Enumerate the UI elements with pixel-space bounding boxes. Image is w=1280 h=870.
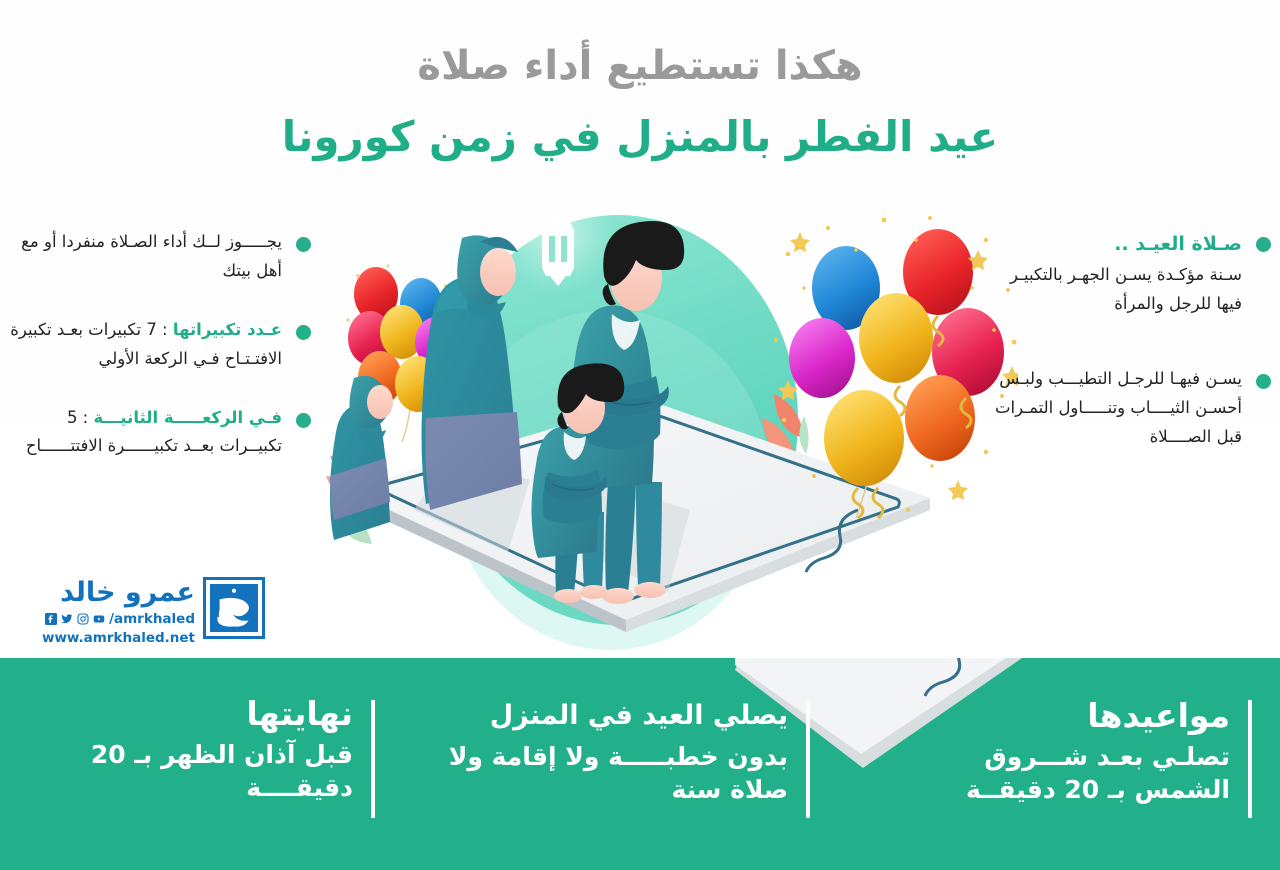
panel-right-title: مواعيدها xyxy=(892,698,1230,734)
left-bullet-1-text: يجـــــوز لــك أداء الصـلاة منفردا أو مع… xyxy=(10,228,310,286)
list-item: صـلاة العيـد ..سـنة مؤكـدة يسـن الجهـر ب… xyxy=(990,228,1270,319)
bullet-dot-icon xyxy=(1256,374,1271,389)
hanging-lantern-icon xyxy=(500,180,616,293)
right-bullet-column: صـلاة العيـد ..سـنة مؤكـدة يسـن الجهـر ب… xyxy=(990,228,1270,482)
panel-how-to-pray: يصلي العيد في المنزل بدون خطبـــــة ولا … xyxy=(410,658,810,870)
right-bullet-1-heading: صـلاة العيـد .. xyxy=(990,228,1242,261)
mother-figure xyxy=(422,235,523,510)
instagram-icon[interactable] xyxy=(77,613,89,625)
list-item: فـي الركعـــــة الثانيـــة : 5 تكبيــرات… xyxy=(10,404,310,462)
amrkhaled-emblem-icon xyxy=(203,577,265,639)
bullet-dot-icon xyxy=(296,413,311,428)
list-item: يسـن فيهـا للرجـل التطيـــب ولبـس أحسـن … xyxy=(990,365,1270,452)
bottom-green-band: مواعيدها تصلـي بعـد شـــروق الشمس بـ 20 … xyxy=(0,658,1280,870)
left-bullet-2-highlight: عـدد تكبيراتها xyxy=(173,320,282,339)
panel-right-body: تصلـي بعـد شـــروق الشمس بـ 20 دقيقــة xyxy=(892,740,1230,806)
left-bullet-3: فـي الركعـــــة الثانيـــة : 5 تكبيــرات… xyxy=(10,404,310,462)
left-bullet-column: يجـــــوز لــك أداء الصـلاة منفردا أو مع… xyxy=(10,228,310,491)
logo-social-row[interactable]: /amrkhaled xyxy=(45,611,195,627)
logo-url-text[interactable]: www.amrkhaled.net xyxy=(42,630,195,646)
header: هكذا تستطيع أداء صلاة عيد الفطر بالمنزل … xyxy=(0,0,1280,190)
daughter-figure xyxy=(330,376,393,540)
panel-left-title: نهايتها xyxy=(35,696,353,732)
facebook-icon[interactable] xyxy=(45,613,57,625)
bullet-dot-icon xyxy=(296,237,311,252)
panel-prayer-time: مواعيدها تصلـي بعـد شـــروق الشمس بـ 20 … xyxy=(892,658,1252,870)
panel-mid-title: يصلي العيد في المنزل xyxy=(410,698,788,734)
illustration-family-praying xyxy=(318,180,1018,680)
page-title-line1: هكذا تستطيع أداء صلاة xyxy=(0,42,1280,90)
logo-name: عمرو خالد xyxy=(60,577,195,608)
panel-divider-rule xyxy=(371,700,375,818)
infographic-page: هكذا تستطيع أداء صلاة عيد الفطر بالمنزل … xyxy=(0,0,1280,870)
logo-handle-text: /amrkhaled xyxy=(109,611,195,627)
right-bullet-1-text: سـنة مؤكـدة يسـن الجهـر بالتكبيـر فيها ل… xyxy=(1010,265,1242,313)
panel-mid-body: بدون خطبـــــة ولا إقامة ولا صلاة سنة xyxy=(410,740,788,806)
left-bullet-3-highlight: فـي الركعـــــة الثانيـــة xyxy=(94,408,283,427)
bullet-dot-icon xyxy=(296,325,311,340)
panel-divider-rule xyxy=(1248,700,1252,818)
page-title-line2: عيد الفطر بالمنزل في زمن كورونا xyxy=(0,112,1280,162)
panel-end-time: نهايتها قبل آذان الظهر بـ 20 دقيقــــة xyxy=(35,658,375,870)
bullet-dot-icon xyxy=(1256,237,1271,252)
brand-logo[interactable]: عمرو خالد /amrkhaled www.amrkhaled.net xyxy=(55,575,265,653)
left-bullet-2: عـدد تكبيراتها : 7 تكبيرات بعـد تكبيرة ا… xyxy=(10,316,310,374)
list-item: عـدد تكبيراتها : 7 تكبيرات بعـد تكبيرة ا… xyxy=(10,316,310,374)
twitter-icon[interactable] xyxy=(61,613,73,625)
panel-left-body: قبل آذان الظهر بـ 20 دقيقــــة xyxy=(35,738,353,804)
right-bullet-1: صـلاة العيـد ..سـنة مؤكـدة يسـن الجهـر ب… xyxy=(990,228,1270,319)
youtube-icon[interactable] xyxy=(93,613,105,625)
right-bullet-2-text: يسـن فيهـا للرجـل التطيـــب ولبـس أحسـن … xyxy=(990,365,1270,452)
panel-divider-rule xyxy=(806,700,810,818)
list-item: يجـــــوز لــك أداء الصـلاة منفردا أو مع… xyxy=(10,228,310,286)
